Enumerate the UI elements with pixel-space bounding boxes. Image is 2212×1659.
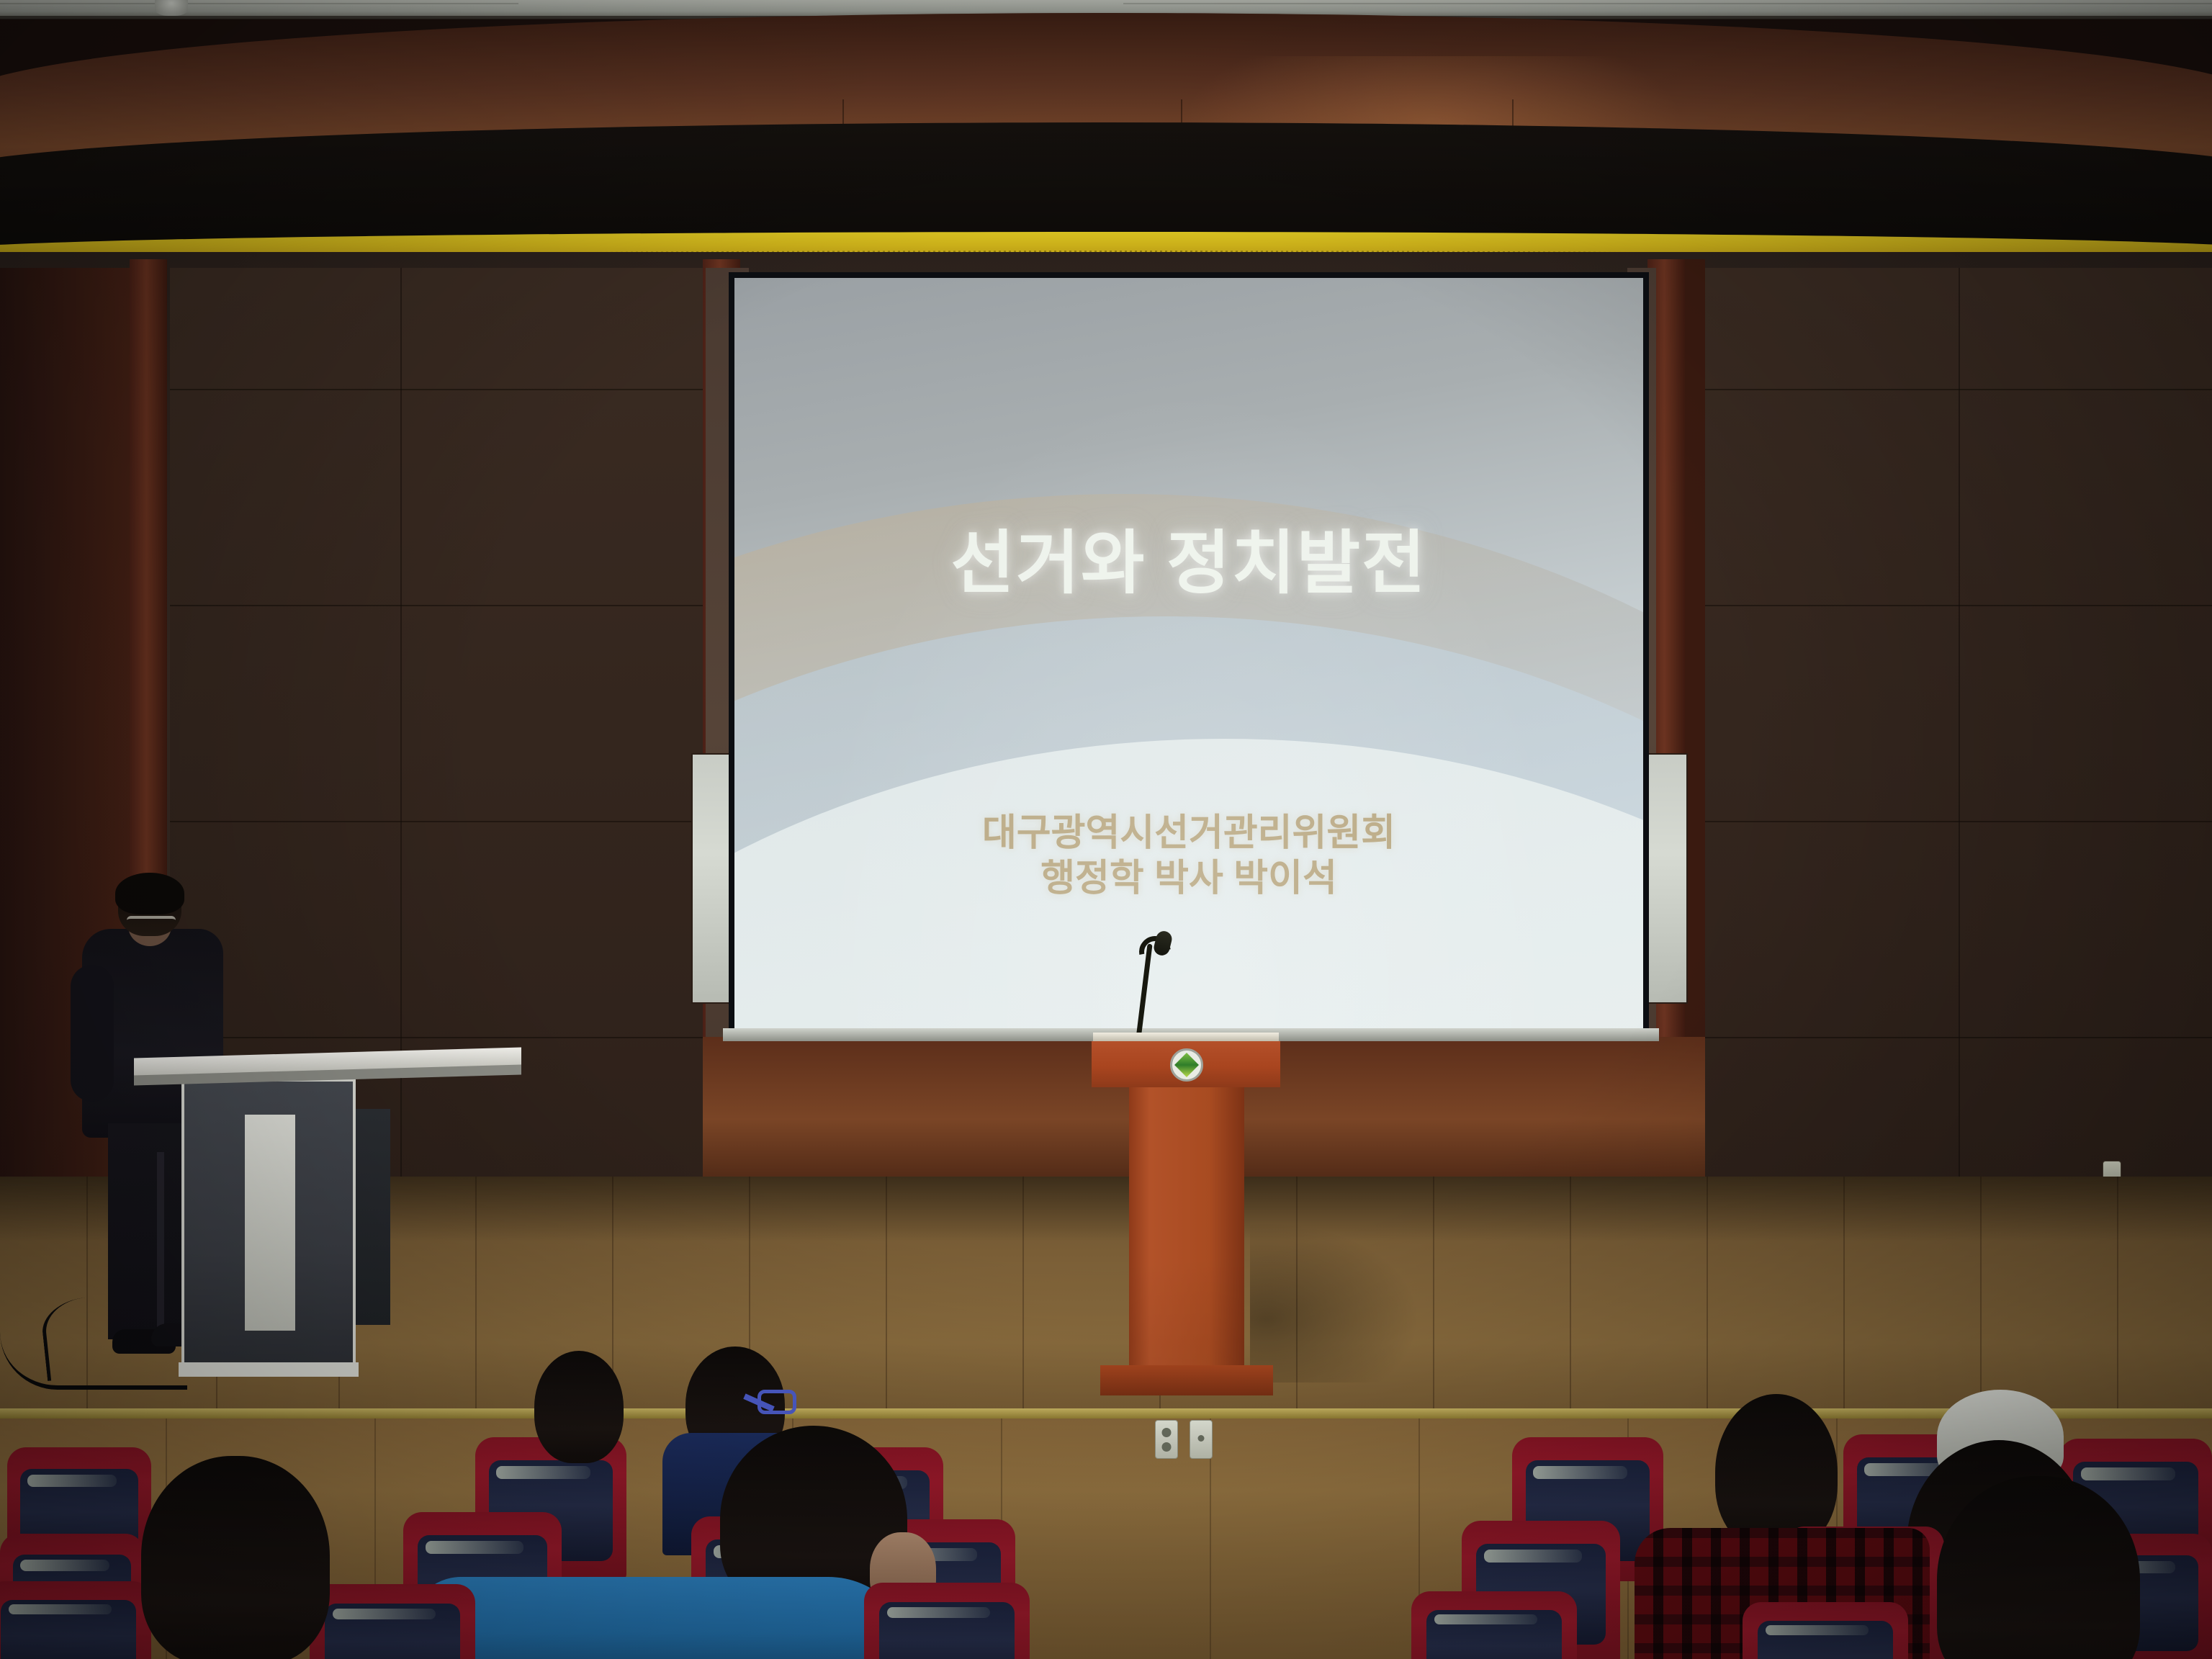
slide-surface: 선거와 정치발전 대구광역시선거관리위원회 행정학 박사 박이석: [734, 278, 1643, 1030]
presenter-leg-gap: [157, 1152, 164, 1332]
seat[interactable]: [864, 1583, 1030, 1659]
podium-shadow: [1250, 1224, 1416, 1382]
side-board-right: [1646, 753, 1688, 1004]
attendee-head: [141, 1456, 330, 1659]
seat[interactable]: [1743, 1602, 1908, 1659]
side-board-left: [691, 753, 732, 1004]
power-outlet-plate[interactable]: [1155, 1420, 1178, 1459]
wall-seam: [170, 821, 706, 822]
presenter-arm: [71, 965, 114, 1102]
auditorium-scene: 선거와 정치발전 대구광역시선거관리위원회 행정학 박사 박이석: [0, 0, 2212, 1659]
slide-subtitle: 대구광역시선거관리위원회 행정학 박사 박이석: [734, 811, 1643, 902]
data-jack-plate[interactable]: [1190, 1420, 1213, 1459]
seat[interactable]: [310, 1584, 475, 1659]
wall-seam: [170, 1037, 706, 1038]
projection-screen[interactable]: 선거와 정치발전 대구광역시선거관리위원회 행정학 박사 박이석: [729, 272, 1649, 1035]
emblem-mark: [1174, 1053, 1199, 1077]
ceiling-seam: [0, 3, 518, 4]
podium-column: [1129, 1087, 1244, 1375]
wall-seam: [1959, 268, 1960, 1191]
seat[interactable]: [0, 1581, 151, 1659]
podium-base: [1100, 1365, 1273, 1395]
attendee-blue-torso: [410, 1577, 914, 1659]
recessed-downlight-icon: [155, 0, 188, 16]
control-lectern-panel: [245, 1115, 295, 1331]
presenter-hair: [115, 873, 184, 914]
wall-seam: [170, 389, 706, 390]
ceiling-seam: [1123, 3, 2212, 4]
seat[interactable]: [1411, 1591, 1577, 1659]
election-commission-emblem-icon: [1170, 1048, 1203, 1082]
slide-title: 선거와 정치발전: [734, 507, 1643, 607]
wall-seam: [170, 605, 706, 606]
slide-subtitle-line2: 행정학 박사 박이석: [734, 856, 1643, 902]
slide-subtitle-line1: 대구광역시선거관리위원회: [734, 811, 1643, 856]
glasses-icon: [127, 916, 176, 926]
control-lectern-foot: [179, 1362, 359, 1377]
control-lectern-side: [356, 1109, 390, 1325]
attendee-head: [534, 1351, 624, 1463]
